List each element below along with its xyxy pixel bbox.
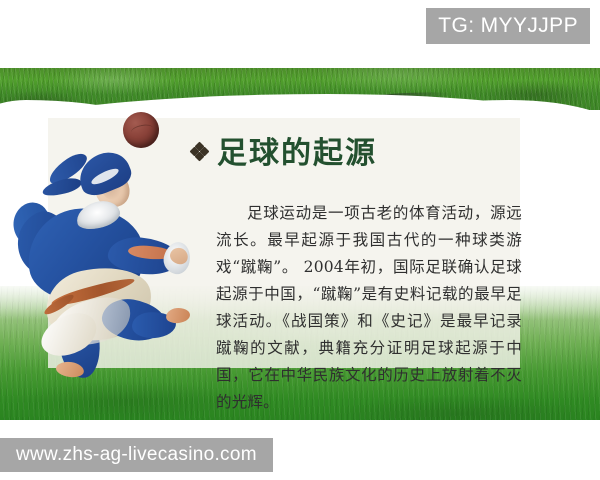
slide-title: 足球的起源 [48, 134, 520, 174]
cuju-player-illustration [16, 150, 186, 375]
telegram-watermark: TG: MYYJJPP [426, 8, 590, 44]
slide-title-text: 足球的起源 [217, 136, 377, 171]
hat-wing-lower [41, 175, 83, 198]
slide-body-text: 足球运动是一项古老的体育活动，源远流长。最早起源于我国古代的一种球类游戏“蹴鞠”… [216, 200, 522, 416]
screenshot-canvas: 足球的起源 足球运动是一项古老的体育活动，源远流长。最早起源于我国古代的一种球类… [0, 0, 600, 480]
site-url-watermark: www.zhs-ag-livecasino.com [0, 438, 273, 472]
four-diamond-ornament-icon [191, 143, 209, 161]
presentation-slide: 足球的起源 足球运动是一项古老的体育活动，源远流长。最早起源于我国古代的一种球类… [0, 0, 600, 420]
top-grass-band [0, 68, 600, 110]
